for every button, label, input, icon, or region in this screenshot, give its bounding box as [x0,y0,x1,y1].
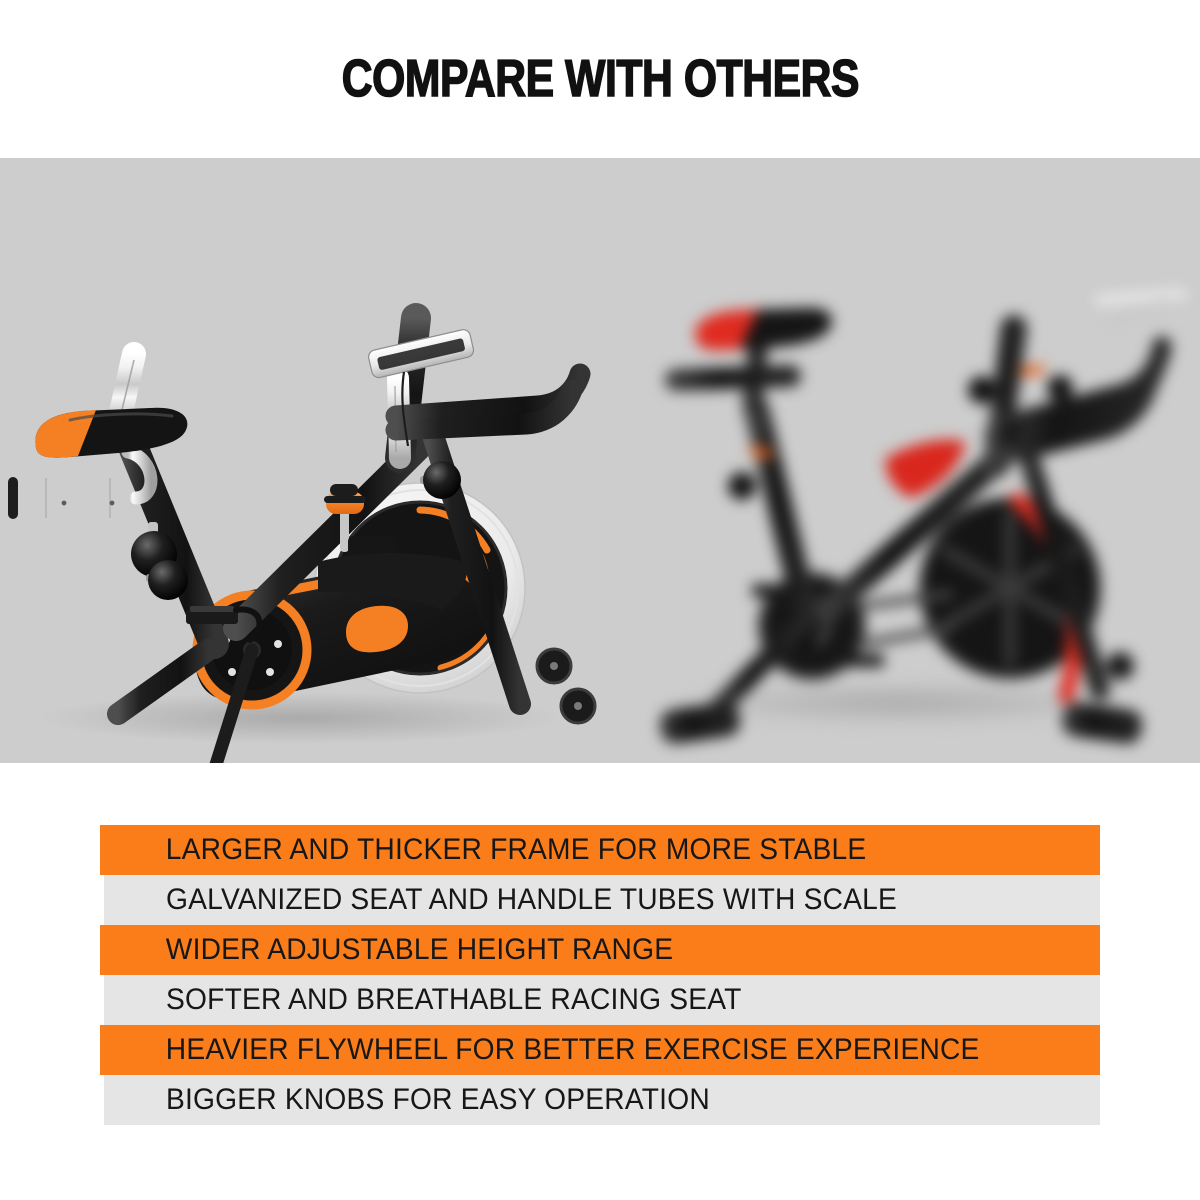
product-image-competitor [600,158,1200,763]
feature-comparison-list: LARGER AND THICKER FRAME FOR MORE STABLE… [0,763,1200,1200]
competitor-monitor [1100,294,1182,300]
saddle [35,408,187,458]
competitor-saddle [695,308,831,350]
title-bar: COMPARE WITH OTHERS [0,0,1200,158]
feature-row: WIDER ADJUSTABLE HEIGHT RANGE [100,925,1100,975]
feature-label: HEAVIER FLYWHEEL FOR BETTER EXERCISE EXP… [100,1033,980,1067]
feature-label: LARGER AND THICKER FRAME FOR MORE STABLE [100,833,866,867]
feature-label: GALVANIZED SEAT AND HANDLE TUBES WITH SC… [104,883,897,917]
feature-row: HEAVIER FLYWHEEL FOR BETTER EXERCISE EXP… [100,1025,1100,1075]
feature-label: BIGGER KNOBS FOR EASY OPERATION [104,1083,710,1117]
feature-label: SOFTER AND BREATHABLE RACING SEAT [104,983,742,1017]
feature-label: WIDER ADJUSTABLE HEIGHT RANGE [100,933,673,967]
feature-row: LARGER AND THICKER FRAME FOR MORE STABLE [100,825,1100,875]
page-title: COMPARE WITH OTHERS [341,49,858,109]
feature-row: SOFTER AND BREATHABLE RACING SEAT [104,975,1100,1025]
feature-row: GALVANIZED SEAT AND HANDLE TUBES WITH SC… [104,875,1100,925]
product-comparison-panel [0,158,1200,763]
competitor-collar-b [1020,364,1045,376]
feature-row: BIGGER KNOBS FOR EASY OPERATION [104,1075,1100,1125]
product-image-ours [0,158,600,763]
